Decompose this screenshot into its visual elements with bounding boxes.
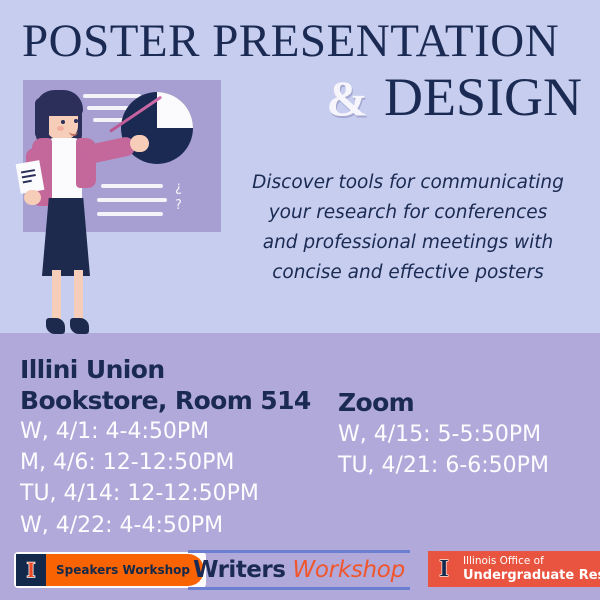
illini-union-session-1: W, 4/1: 4-4:50PM	[20, 416, 340, 447]
presenter-hand-left	[24, 190, 41, 205]
writers-word: Writers	[193, 557, 285, 583]
zoom-session-1: W, 4/15: 5-5:50PM	[338, 419, 598, 450]
block-i-glyph-2: I	[439, 557, 448, 581]
paper-line-3	[23, 180, 32, 184]
presenter-hand-right	[130, 135, 149, 152]
board-line-1	[83, 94, 141, 98]
poster-subtitle: Discover tools for communicating your re…	[228, 168, 588, 288]
subtitle-line-3: and professional meetings with	[228, 228, 588, 258]
illini-union-heading-line-2: Bookstore, Room 514	[20, 386, 340, 417]
presenter-brow-right	[72, 113, 80, 115]
subtitle-line-2: your research for conferences	[228, 198, 588, 228]
illini-union-heading-line-1: Illini Union	[20, 355, 340, 386]
pie-chart-wedge	[157, 92, 193, 128]
presenter-shoe-left	[46, 318, 65, 334]
paper-line-2	[22, 174, 36, 178]
presenter-skirt	[42, 198, 90, 276]
zoom-session-2: TU, 4/21: 6-6:50PM	[338, 450, 598, 481]
our-line-1: Illinois Office of	[463, 555, 600, 567]
question-mark-icon-1: ¿	[175, 180, 182, 195]
schedule-column-illini-union: Illini Union Bookstore, Room 514 W, 4/1:…	[20, 355, 340, 541]
writers-workshop-logo[interactable]: WritersWorkshop	[188, 550, 410, 590]
illinois-block-i-icon-2: I	[432, 554, 456, 584]
presenter-eye-right	[74, 119, 78, 123]
subtitle-line-4: concise and effective posters	[228, 258, 588, 288]
board-line-4	[101, 184, 163, 188]
illini-union-session-3: TU, 4/14: 12-12:50PM	[20, 478, 340, 509]
presenter-shoe-right	[70, 318, 89, 334]
board-line-5	[97, 198, 167, 202]
presenter-eye-left	[61, 120, 65, 124]
undergraduate-research-logo[interactable]: I Illinois Office of Undergraduate Resea…	[428, 551, 600, 587]
subtitle-line-1: Discover tools for communicating	[228, 168, 588, 198]
presenter-leg-right	[74, 270, 83, 324]
illinois-block-i-icon: I	[16, 554, 46, 586]
question-mark-icon-2: ?	[175, 198, 182, 213]
zoom-heading: Zoom	[338, 388, 598, 419]
poster-canvas: POSTER PRESENTATION &DESIGN Discover too…	[0, 0, 600, 600]
block-i-glyph: I	[27, 559, 36, 581]
poster-title-line-2: DESIGN	[384, 67, 582, 127]
presenter-illustration: ¿ ?	[18, 78, 238, 338]
paper-line-1	[21, 169, 35, 173]
illini-union-session-4: W, 4/22: 4-4:50PM	[20, 510, 340, 541]
ampersand-glyph: &	[326, 70, 368, 126]
presenter-brow-left	[60, 114, 68, 116]
undergraduate-research-text: Illinois Office of Undergraduate Researc…	[463, 555, 600, 583]
presenter-cheek	[57, 126, 64, 131]
logo-bar: I Speakers Workshop WritersWorkshop I Il…	[0, 548, 600, 596]
presenter-hair-side	[35, 98, 49, 140]
illini-union-session-2: M, 4/6: 12-12:50PM	[20, 447, 340, 478]
presenter-leg-left	[52, 270, 61, 324]
presenter-paper-card	[16, 160, 45, 194]
board-line-6	[97, 212, 163, 216]
poster-title-line-1: POSTER PRESENTATION	[22, 18, 582, 66]
workshop-word: Workshop	[292, 557, 404, 583]
speakers-workshop-label: Speakers Workshop	[46, 554, 204, 586]
speakers-workshop-logo[interactable]: I Speakers Workshop	[14, 552, 206, 588]
schedule-column-zoom: Zoom W, 4/15: 5-5:50PM TU, 4/21: 6-6:50P…	[338, 388, 598, 481]
our-line-2: Undergraduate Research	[463, 568, 600, 583]
